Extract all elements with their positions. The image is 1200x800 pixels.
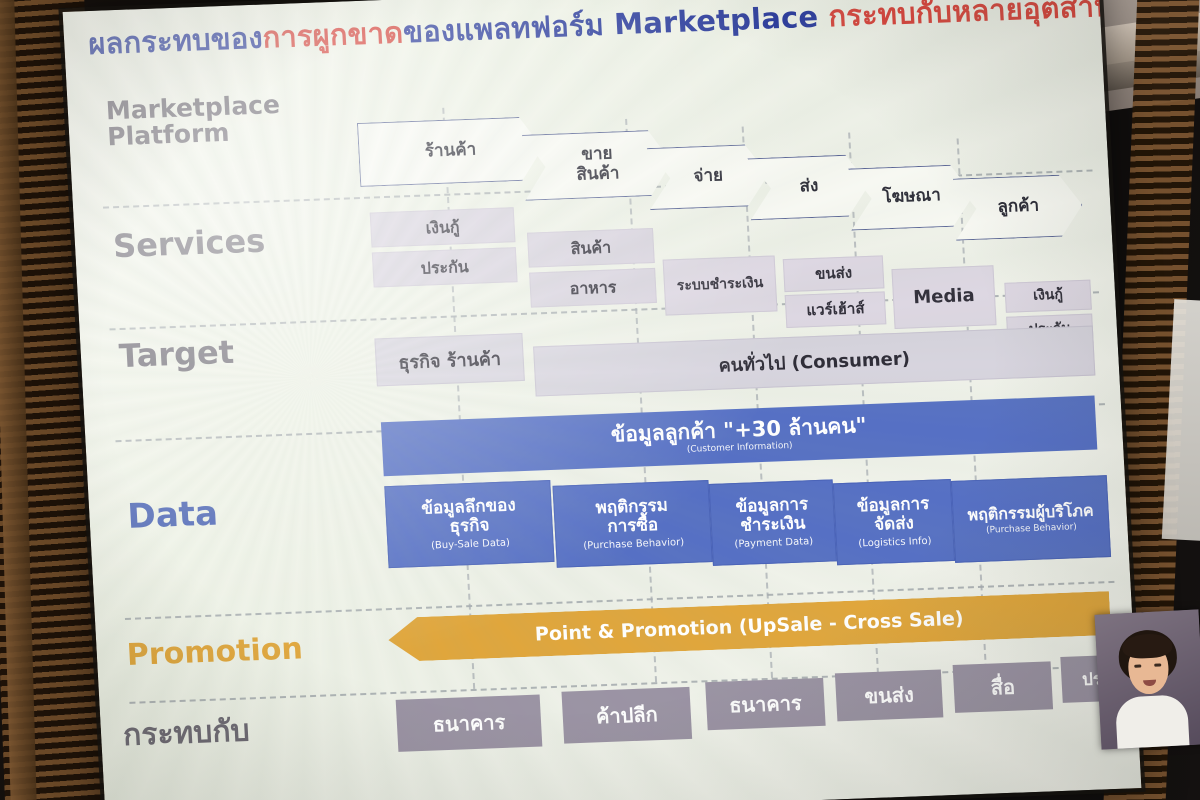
- platform-step-label: จ่าย: [693, 167, 723, 188]
- service-label: ประกัน: [420, 258, 469, 277]
- service-label: สินค้า: [570, 238, 611, 257]
- row-label-marketplace-platform: Marketplace Platform: [105, 92, 282, 151]
- title-part-3: ของแพลทฟอร์ม Marketplace: [402, 0, 829, 49]
- platform-step-customer[interactable]: ลูกค้า: [953, 174, 1084, 241]
- platform-step-pay[interactable]: จ่าย: [647, 144, 770, 210]
- data-box-main: ข้อมูลการ จัดส่ง: [856, 495, 930, 536]
- pip-speaker-body: [1115, 694, 1190, 750]
- data-box-payment-data[interactable]: ข้อมูลการ ชำระเงิน (Payment Data): [709, 479, 837, 566]
- presentation-slide: ผลกระทบของการผูกขาดของแพลทฟอร์ม Marketpl…: [63, 0, 1142, 800]
- impact-label: สื่อ: [990, 671, 1016, 704]
- target-box-business[interactable]: ธุรกิจ ร้านค้า: [374, 333, 524, 386]
- slide-title: ผลกระทบของการผูกขาดของแพลทฟอร์ม Marketpl…: [88, 0, 1089, 61]
- service-label: ระบบชำระเงิน: [676, 276, 763, 295]
- impact-box-bank-1[interactable]: ธนาคาร: [396, 695, 543, 752]
- data-box-main: ข้อมูลการ ชำระเงิน: [735, 495, 809, 536]
- data-box-purchase-behavior[interactable]: พฤติกรรม การซื้อ (Purchase Behavior): [553, 480, 713, 568]
- data-box-sub: (Buy-Sale Data): [431, 538, 510, 552]
- data-box-main: พฤติกรรมผู้บริโภค: [967, 501, 1094, 524]
- data-box-consumer-behavior[interactable]: พฤติกรรมผู้บริโภค (Purchase Behavior): [951, 475, 1111, 563]
- service-label: ขนส่ง: [815, 265, 853, 283]
- platform-step-ads[interactable]: โฆษณา: [848, 164, 975, 231]
- platform-step-label: ส่ง: [799, 177, 819, 197]
- platform-step-shop[interactable]: ร้านค้า: [357, 116, 544, 187]
- speaker-video-thumbnail[interactable]: [1095, 609, 1200, 749]
- service-label: แวร์เฮ้าส์: [806, 300, 865, 319]
- platform-step-label: ลูกค้า: [997, 197, 1040, 218]
- impact-box-logistics[interactable]: ขนส่ง: [835, 669, 943, 721]
- data-box-main: พฤติกรรม การซื้อ: [595, 497, 669, 538]
- data-box-sub: (Logistics Info): [858, 536, 932, 550]
- photo-scene: ผลกระทบของการผูกขาดของแพลทฟอร์ม Marketpl…: [0, 0, 1200, 800]
- row-label-promotion: Promotion: [126, 633, 303, 671]
- service-box-warehouse[interactable]: แวร์เฮ้าส์: [785, 291, 887, 328]
- title-part-1: ผลกระทบของ: [87, 21, 263, 61]
- platform-step-ship[interactable]: ส่ง: [747, 154, 870, 220]
- data-box-sub: (Purchase Behavior): [583, 537, 684, 552]
- row-label-services: Services: [112, 225, 266, 264]
- service-label: เงินกู้: [1033, 288, 1063, 304]
- row-label-data: Data: [127, 497, 219, 536]
- pip-speaker-eye-right: [1154, 663, 1161, 666]
- impact-box-bank-2[interactable]: ธนาคาร: [705, 678, 825, 730]
- target-label: ธุรกิจ ร้านค้า: [398, 343, 502, 376]
- data-box-sub: (Payment Data): [734, 536, 813, 550]
- impact-box-media[interactable]: สื่อ: [953, 661, 1053, 713]
- data-box-buy-sale[interactable]: ข้อมูลลึกของ ธุรกิจ (Buy-Sale Data): [384, 480, 554, 568]
- platform-step-label: ขาย สินค้า: [575, 145, 620, 186]
- service-box-insurance-1[interactable]: ประกัน: [372, 247, 518, 287]
- title-part-4: กระทบกับหลายอุตสาหกรรม: [828, 0, 1142, 33]
- title-part-2: การผูกขาด: [262, 15, 404, 54]
- service-box-loan-1[interactable]: เงินกู้: [370, 207, 516, 247]
- service-box-logistics[interactable]: ขนส่ง: [783, 255, 885, 292]
- service-label: อาหาร: [569, 278, 617, 297]
- data-box-sub: (Purchase Behavior): [986, 523, 1077, 536]
- impact-label: ธนาคาร: [728, 687, 802, 722]
- row-label-impact: กระทบกับ: [122, 715, 250, 751]
- service-label: Media: [913, 286, 975, 308]
- promotion-label: Point & Promotion (UpSale - Cross Sale): [534, 608, 964, 646]
- target-label: คนทั่วไป (Consumer): [718, 343, 911, 379]
- impact-label: ค้าปลีก: [595, 698, 658, 732]
- service-label: เงินกู้: [425, 218, 460, 237]
- service-box-media[interactable]: Media: [891, 265, 996, 329]
- impact-label: ขนส่ง: [864, 678, 915, 712]
- service-box-goods[interactable]: สินค้า: [527, 228, 655, 268]
- target-box-consumer[interactable]: คนทั่วไป (Consumer): [533, 326, 1095, 397]
- projection-screen: ผลกระทบของการผูกขาดของแพลทฟอร์ม Marketpl…: [63, 0, 1142, 800]
- platform-step-sell[interactable]: ขาย สินค้า: [522, 129, 673, 200]
- service-box-food[interactable]: อาหาร: [529, 268, 657, 308]
- row-label-target: Target: [118, 336, 235, 374]
- service-box-payment-system[interactable]: ระบบชำระเงิน: [663, 255, 778, 315]
- impact-label: ธนาคาร: [432, 706, 506, 741]
- platform-step-label: ร้านค้า: [424, 141, 476, 162]
- pip-speaker-eye-left: [1134, 664, 1141, 667]
- service-box-loan-2[interactable]: เงินกู้: [1004, 280, 1092, 313]
- data-box-logistics-info[interactable]: ข้อมูลการ จัดส่ง (Logistics Info): [833, 479, 955, 565]
- platform-step-label: โฆษณา: [882, 186, 941, 208]
- data-banner: ข้อมูลลูกค้า "+30 ล้านคน" (Customer Info…: [381, 396, 1097, 477]
- data-box-main: ข้อมูลลึกของ ธุรกิจ: [421, 496, 517, 538]
- impact-box-retail[interactable]: ค้าปลีก: [561, 687, 692, 744]
- promotion-arrow: Point & Promotion (UpSale - Cross Sale): [387, 591, 1111, 662]
